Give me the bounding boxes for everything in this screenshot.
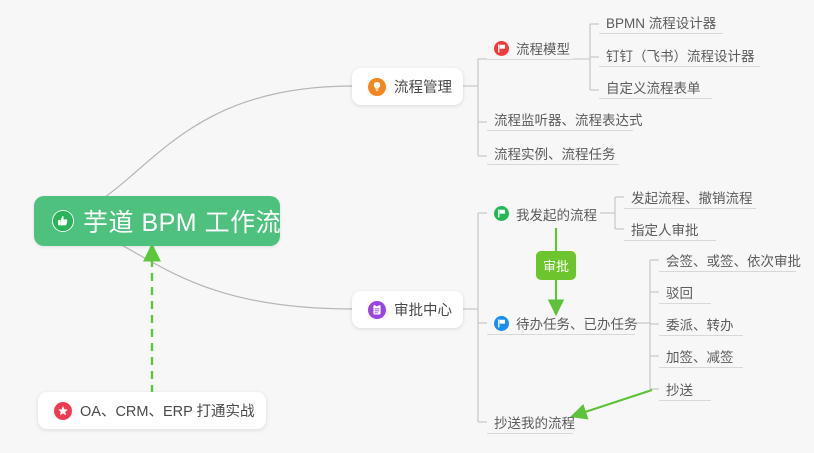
label-process-model: 流程模型 [516, 38, 570, 58]
flag-icon [494, 41, 509, 56]
label-assignee-approval: 指定人审批 [631, 219, 699, 239]
annotation-chip-approval: 审批 [536, 251, 576, 280]
label-listener-expression: 流程监听器、流程表达式 [494, 109, 643, 129]
node-delegate-transfer[interactable]: 委派、转办 [659, 313, 743, 336]
node-instance-task[interactable]: 流程实例、流程任务 [487, 142, 619, 165]
label-delegate-transfer: 委派、转办 [666, 314, 734, 334]
label-dingtalk-feishu-designer: 钉钉（飞书）流程设计器 [606, 45, 755, 65]
label-countersign: 会签、或签、依次审批 [666, 250, 801, 270]
label-custom-process-form: 自定义流程表单 [606, 77, 701, 97]
arrow-cc-to-my-process [576, 390, 652, 415]
node-cc[interactable]: 抄送 [659, 378, 711, 401]
annotation-chip-label: 审批 [543, 256, 569, 275]
node-bpmn-designer[interactable]: BPMN 流程设计器 [599, 11, 723, 34]
branch-label-process-management: 流程管理 [394, 76, 452, 97]
node-add-remove-sign[interactable]: 加签、减签 [659, 345, 743, 368]
label-instance-task: 流程实例、流程任务 [494, 143, 616, 163]
node-listener-expression[interactable]: 流程监听器、流程表达式 [487, 108, 633, 131]
node-reject[interactable]: 驳回 [659, 281, 711, 304]
root-label: 芋道 BPM 工作流 [83, 203, 281, 239]
star-icon [54, 402, 72, 420]
label-bpmn-designer: BPMN 流程设计器 [606, 12, 716, 32]
node-custom-process-form[interactable]: 自定义流程表单 [599, 76, 712, 99]
node-countersign[interactable]: 会签、或签、依次审批 [659, 249, 796, 272]
node-my-initiated[interactable]: 我发起的流程 [487, 202, 600, 225]
label-cc-to-me: 抄送我的流程 [494, 412, 575, 432]
flag-icon [494, 316, 509, 331]
mindmap-canvas: 芋道 BPM 工作流 流程管理 流程模型 BPMN 流程设计器 钉钉（飞书）流程… [0, 0, 814, 453]
floating-node-integration-practice[interactable]: OA、CRM、ERP 打通实战 [38, 392, 266, 429]
node-cc-to-me[interactable]: 抄送我的流程 [487, 411, 573, 434]
branch-node-process-management[interactable]: 流程管理 [352, 68, 463, 105]
thumbs-up-icon [52, 210, 74, 232]
label-my-initiated: 我发起的流程 [516, 204, 597, 224]
floating-label-integration-practice: OA、CRM、ERP 打通实战 [80, 400, 255, 421]
node-process-model[interactable]: 流程模型 [487, 37, 573, 60]
root-node[interactable]: 芋道 BPM 工作流 [34, 196, 280, 246]
label-cc: 抄送 [666, 379, 693, 399]
node-todo-done-tasks[interactable]: 待办任务、已办任务 [487, 312, 635, 335]
flag-icon [494, 206, 509, 221]
label-reject: 驳回 [666, 282, 693, 302]
branch-label-approval-center: 审批中心 [394, 299, 452, 320]
label-add-remove-sign: 加签、减签 [666, 346, 734, 366]
node-dingtalk-feishu-designer[interactable]: 钉钉（飞书）流程设计器 [599, 44, 760, 67]
label-todo-done-tasks: 待办任务、已办任务 [516, 313, 638, 333]
node-start-cancel-process[interactable]: 发起流程、撤销流程 [624, 186, 756, 209]
clipboard-icon [368, 301, 386, 319]
lightbulb-icon [368, 78, 386, 96]
branch-node-approval-center[interactable]: 审批中心 [352, 291, 463, 328]
node-assignee-approval[interactable]: 指定人审批 [624, 218, 716, 241]
label-start-cancel-process: 发起流程、撤销流程 [631, 187, 753, 207]
